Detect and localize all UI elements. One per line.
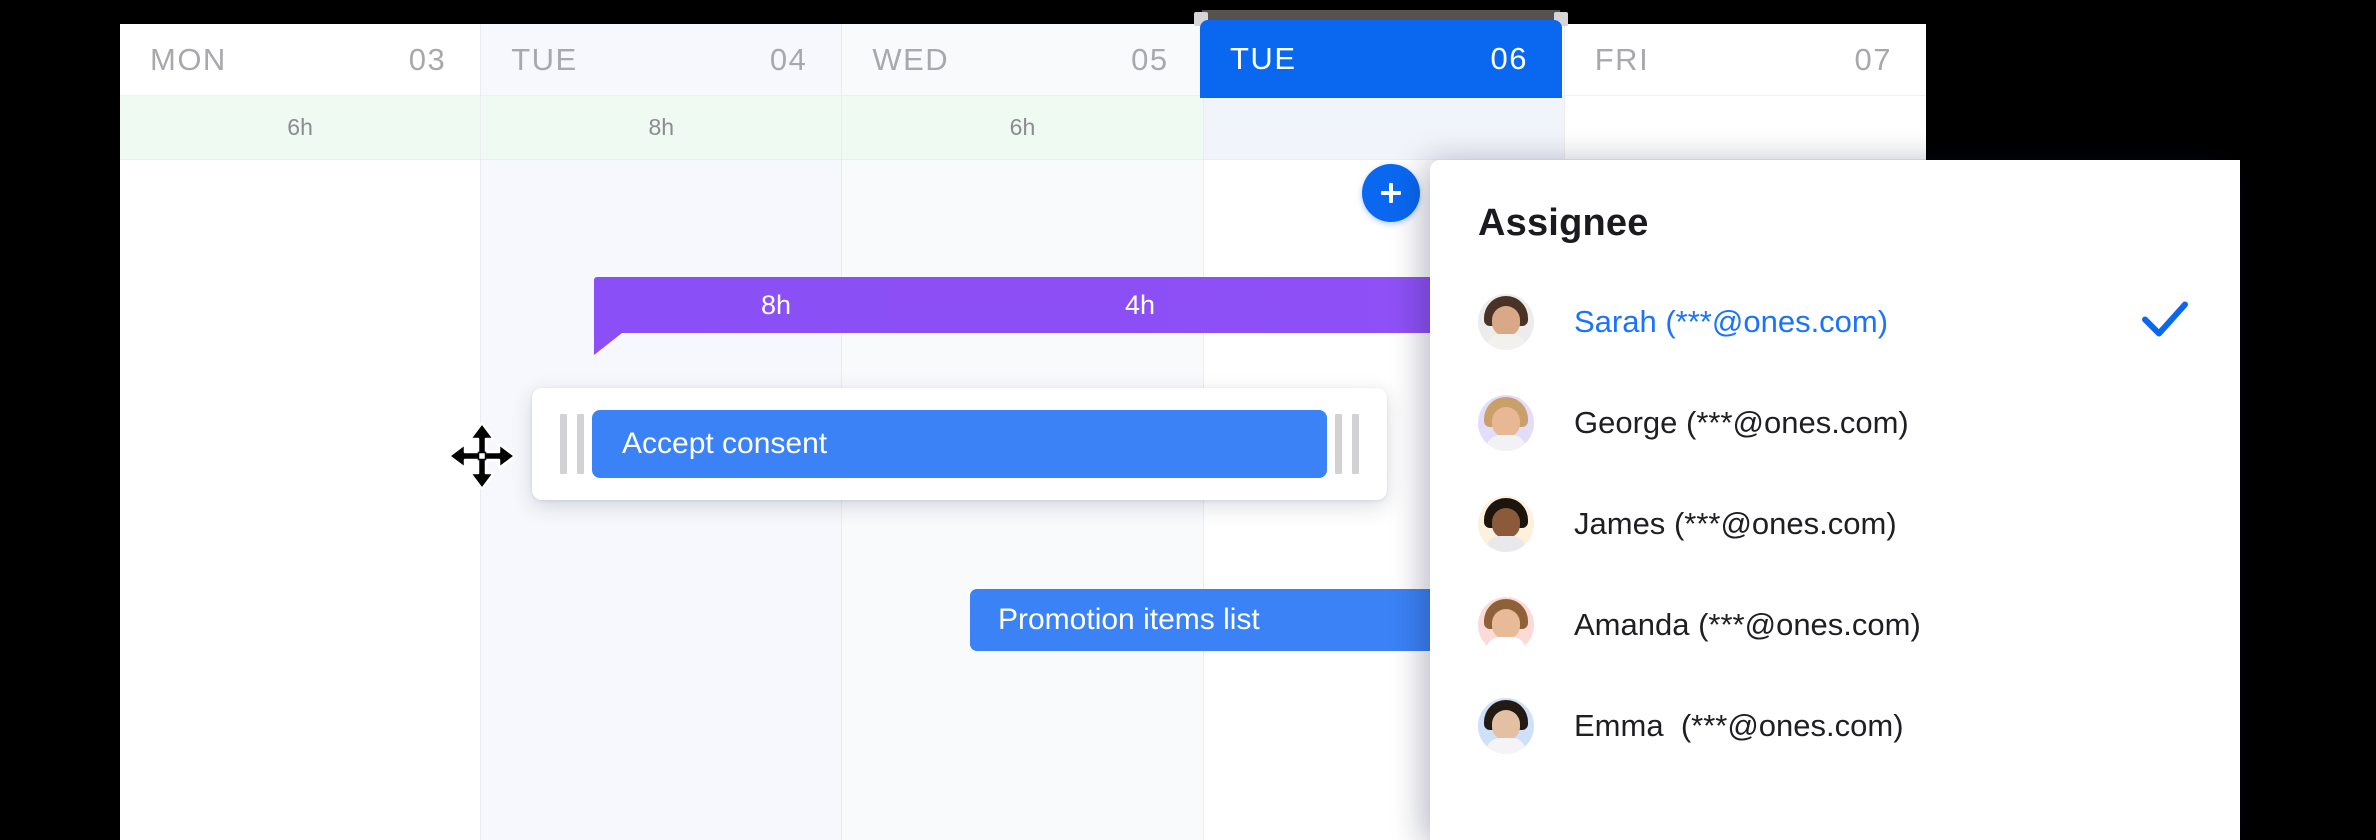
task-bar-accept-consent[interactable]: Accept consent <box>592 410 1327 478</box>
day-of-week-label: TUE <box>1230 41 1297 77</box>
workload-bar-tail <box>594 333 622 355</box>
day-number-label: 06 <box>1491 41 1528 77</box>
assignee-name-label: Sarah (***@ones.com) <box>1574 304 1888 340</box>
hours-label: 6h <box>1010 114 1036 141</box>
assignee-name-label: James (***@ones.com) <box>1574 506 1897 542</box>
assignee-popover[interactable]: Assignee Sarah (***@ones.com) <box>1430 160 2240 840</box>
assignee-row-james[interactable]: James (***@ones.com) <box>1430 473 2240 574</box>
add-task-button[interactable] <box>1362 164 1420 222</box>
hours-label: 6h <box>287 114 313 141</box>
day-of-week-label: MON <box>150 42 227 78</box>
resize-handle-left[interactable] <box>560 414 584 474</box>
assignee-row-amanda[interactable]: Amanda (***@ones.com) <box>1430 574 2240 675</box>
day-header-fri[interactable]: FRI 07 <box>1565 24 1926 96</box>
avatar <box>1478 597 1534 653</box>
day-of-week-label: WED <box>872 42 949 78</box>
avatar-face-icon <box>1478 597 1534 653</box>
avatar <box>1478 395 1534 451</box>
workload-segment: 4h <box>958 277 1322 333</box>
day-of-week-label: TUE <box>511 42 578 78</box>
day-header-tue-04[interactable]: TUE 04 <box>481 24 841 96</box>
day-hours-fri <box>1565 96 1926 160</box>
avatar <box>1478 294 1534 350</box>
day-column-mon[interactable]: MON 03 6h <box>120 24 481 840</box>
day-header-mon[interactable]: MON 03 <box>120 24 480 96</box>
day-body-wed[interactable] <box>842 160 1202 840</box>
day-hours-wed: 6h <box>842 96 1202 160</box>
selected-day-header-tue-06[interactable]: TUE 06 <box>1200 20 1562 98</box>
day-hours-mon: 6h <box>120 96 480 160</box>
plus-icon <box>1378 180 1404 206</box>
assignee-list: Sarah (***@ones.com) George (***@ones.co… <box>1430 271 2240 776</box>
avatar-face-icon <box>1478 698 1534 754</box>
assignee-row-sarah[interactable]: Sarah (***@ones.com) <box>1430 271 2240 372</box>
avatar <box>1478 698 1534 754</box>
day-number-label: 07 <box>1854 42 1891 78</box>
day-hours-tue-04: 8h <box>481 96 841 160</box>
assignee-name-label: George (***@ones.com) <box>1574 405 1909 441</box>
avatar-face-icon <box>1478 294 1534 350</box>
assignee-panel-title: Assignee <box>1430 160 2240 245</box>
day-number-label: 03 <box>409 42 446 78</box>
assignee-row-emma[interactable]: Emma (***@ones.com) <box>1430 675 2240 776</box>
task-drag-card[interactable]: Accept consent <box>532 388 1387 500</box>
screen: MON 03 6h TUE 04 8h <box>0 0 2376 840</box>
avatar-face-icon <box>1478 496 1534 552</box>
assignee-name-label: Amanda (***@ones.com) <box>1574 607 1921 643</box>
day-body-tue-04[interactable] <box>481 160 841 840</box>
day-hours-tue-06 <box>1204 96 1564 160</box>
task-title: Accept consent <box>622 427 827 461</box>
workload-segment: 8h <box>594 277 958 333</box>
check-icon <box>2142 299 2188 344</box>
day-header-wed[interactable]: WED 05 <box>842 24 1202 96</box>
assignee-row-george[interactable]: George (***@ones.com) <box>1430 372 2240 473</box>
avatar-face-icon <box>1478 395 1534 451</box>
assignee-name-label: Emma (***@ones.com) <box>1574 708 1904 744</box>
day-body-mon[interactable] <box>120 160 480 840</box>
day-of-week-label: FRI <box>1595 42 1649 78</box>
hours-label: 8h <box>648 114 674 141</box>
resize-handle-right[interactable] <box>1335 414 1359 474</box>
avatar <box>1478 496 1534 552</box>
day-number-label: 04 <box>770 42 807 78</box>
task-title: Promotion items list <box>998 603 1260 637</box>
day-number-label: 05 <box>1131 42 1168 78</box>
